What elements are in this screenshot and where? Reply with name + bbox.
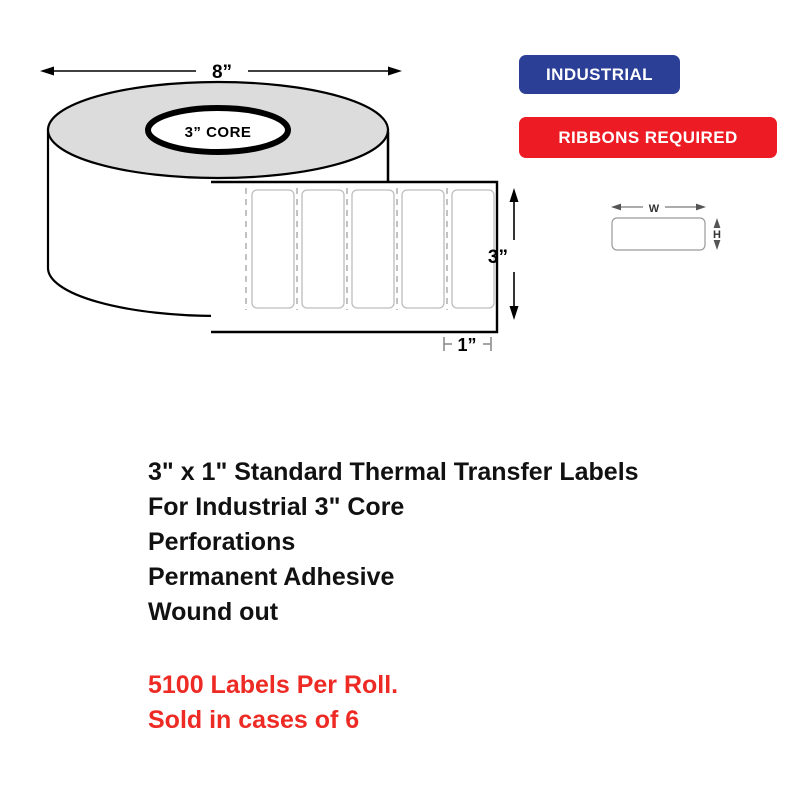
core-label: 3” CORE <box>185 124 252 141</box>
label-faces <box>252 190 494 308</box>
description-line: Wound out <box>148 595 748 630</box>
label-roll-illustration: 8” 3” CORE <box>0 0 560 380</box>
width-dimension-label: 8” <box>212 62 232 83</box>
label-face <box>302 190 344 308</box>
height-dimension-label: 3” <box>488 247 508 268</box>
quantity-note: 5100 Labels Per Roll. Sold in cases of 6 <box>148 668 748 738</box>
label-face <box>252 190 294 308</box>
h-dimension-arrow: H <box>713 218 721 250</box>
w-dimension-arrow: W <box>611 203 706 215</box>
badge-industrial: INDUSTRIAL <box>519 55 680 94</box>
product-diagram-canvas: 8” 3” CORE <box>0 0 800 800</box>
width-dimension-8in: 8” <box>40 62 402 83</box>
quantity-line: Sold in cases of 6 <box>148 703 748 738</box>
pitch-dimension-label: 1” <box>457 335 476 355</box>
sample-label-shape <box>612 218 705 250</box>
label-face <box>352 190 394 308</box>
pitch-dimension-1in: 1” <box>444 335 491 355</box>
h-label: H <box>713 229 721 241</box>
description-line: Permanent Adhesive <box>148 560 748 595</box>
label-dimension-key: W H <box>595 192 745 277</box>
label-face <box>402 190 444 308</box>
description-line: 3" x 1" Standard Thermal Transfer Labels <box>148 455 748 490</box>
badge-ribbons-required: RIBBONS REQUIRED <box>519 117 777 158</box>
badge-industrial-label: INDUSTRIAL <box>546 65 653 85</box>
w-label: W <box>649 203 660 215</box>
quantity-line: 5100 Labels Per Roll. <box>148 668 748 703</box>
product-description: 3" x 1" Standard Thermal Transfer Labels… <box>148 455 748 630</box>
description-line: Perforations <box>148 525 748 560</box>
badge-ribbons-label: RIBBONS REQUIRED <box>558 128 737 148</box>
description-line: For Industrial 3" Core <box>148 490 748 525</box>
